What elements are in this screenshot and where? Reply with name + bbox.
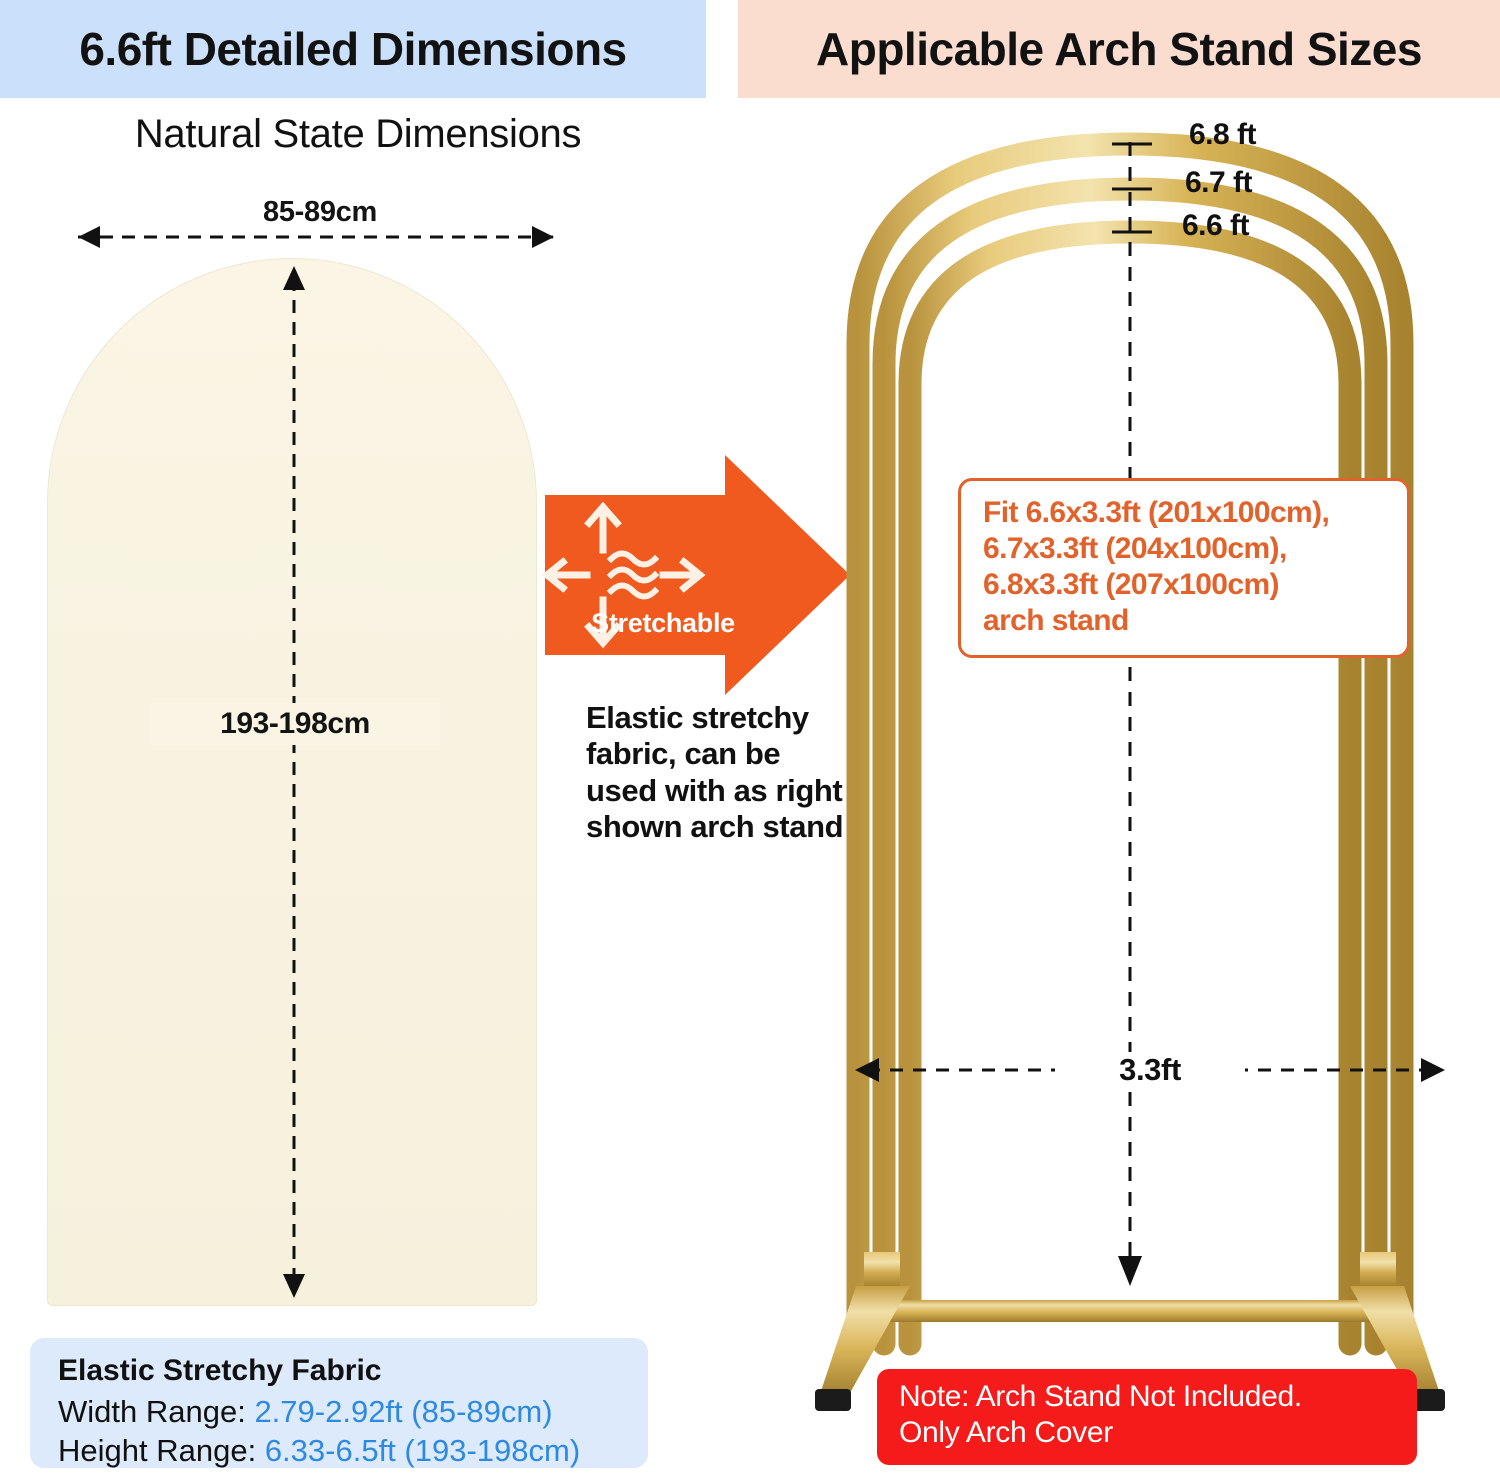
info-box-title: Elastic Stretchy Fabric [58,1354,381,1387]
infographic-canvas: 6.6ft Detailed Dimensions Applicable Arc… [0,0,1500,1476]
arch-stand-not-included-note: Note: Arch Stand Not Included. Only Arch… [877,1369,1417,1465]
info-row-height: Height Range: 6.33-6.5ft (193-198cm) [58,1433,580,1468]
info-row-width: Width Range: 2.79-2.92ft (85-89cm) [58,1394,553,1429]
header-band-right: Applicable Arch Stand Sizes [738,0,1500,98]
fit-line-3: 6.8x3.3ft (207x100cm) [983,567,1389,603]
stretchable-label: Stretchable [583,608,743,639]
fit-line-2: 6.7x3.3ft (204x100cm), [983,531,1389,567]
fit-line-1: Fit 6.6x3.3ft (201x100cm), [983,495,1389,531]
header-left-title: 6.6ft Detailed Dimensions [79,26,626,72]
height-dimension-line-icon [282,258,306,1306]
height-dimension-label: 193-198cm [150,703,440,745]
stand-width-label: 3.3ft [1055,1052,1245,1088]
arch-label-6-8ft: 6.8 ft [1189,118,1256,152]
natural-state-subtitle: Natural State Dimensions [58,112,658,157]
arch-stand-illustration [760,104,1500,1404]
header-band-left: 6.6ft Detailed Dimensions [0,0,706,98]
note-line-2: Only Arch Cover [899,1415,1401,1451]
arch-label-6-6ft: 6.6 ft [1182,209,1249,243]
arch-label-6-7ft: 6.7 ft [1185,166,1252,200]
note-line-1: Note: Arch Stand Not Included. [899,1379,1401,1415]
header-right-title: Applicable Arch Stand Sizes [816,26,1422,72]
elastic-info-box: Elastic Stretchy Fabric Width Range: 2.7… [30,1338,648,1468]
fit-line-4: arch stand [983,603,1389,639]
width-dimension-line-icon [52,225,580,249]
fit-sizes-box: Fit 6.6x3.3ft (201x100cm), 6.7x3.3ft (20… [958,478,1410,658]
